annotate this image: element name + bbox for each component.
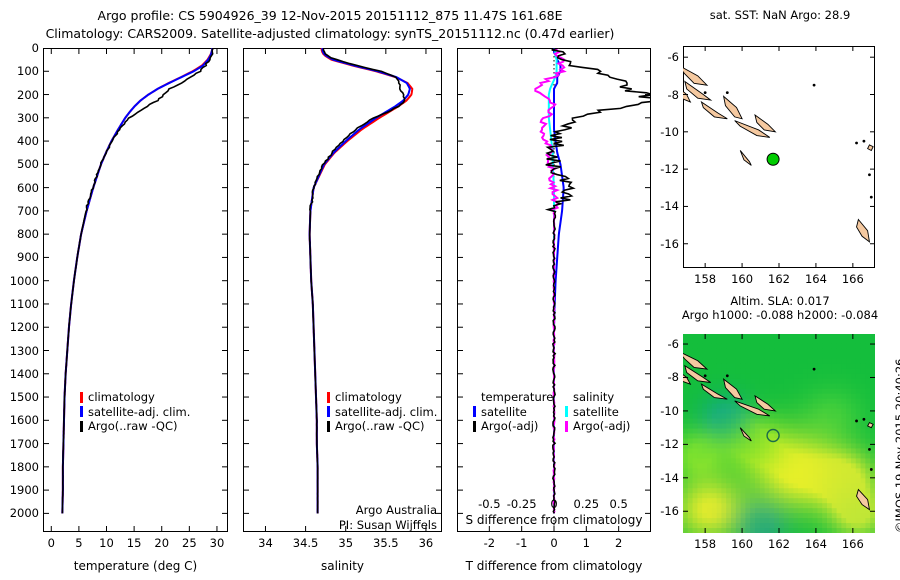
temperature-tick-label: 20	[148, 536, 176, 550]
depth-tick-label: 0	[0, 41, 39, 55]
legend-header: temperature	[473, 390, 565, 405]
depth-tick-label: 1100	[0, 297, 39, 311]
map-lat-tick-label: -8	[655, 370, 679, 384]
difference-legend-salinity-column: salinity satellite Argo(-adj)	[565, 390, 655, 434]
panel-temperature-plot	[43, 48, 228, 532]
legend-swatch-satellite-adj	[80, 406, 83, 417]
legend-swatch-satellite-adj	[327, 406, 330, 417]
copyright-text: ©IMOS 19-Nov-2015 20:40:26	[893, 359, 900, 533]
sla-map-title-line1: Altim. SLA: 0.017	[660, 294, 900, 308]
depth-tick-label: 900	[0, 250, 39, 264]
map-lat-tick-label: -6	[655, 337, 679, 351]
salinity-tick-label: 35.5	[368, 536, 404, 550]
salinity-legend: climatology satellite-adj. clim. Argo(..…	[327, 390, 437, 434]
legend-item: Argo(-adj)	[565, 419, 655, 434]
depth-tick-label: 700	[0, 204, 39, 218]
depth-tick-label: 1700	[0, 437, 39, 451]
temperature-tick-label: 15	[120, 536, 148, 550]
map-lat-tick-label: -12	[655, 162, 679, 176]
legend-item: climatology	[327, 390, 437, 405]
salinity-difference-tick-label: 0.25	[568, 497, 604, 511]
depth-tick-label: 500	[0, 157, 39, 171]
map-lon-tick-label: 160	[726, 272, 758, 286]
legend-label: satellite-adj. clim.	[88, 405, 190, 420]
depth-tick-label: 1800	[0, 460, 39, 474]
legend-label: climatology	[335, 390, 402, 405]
temperature-tick-label: 5	[65, 536, 93, 550]
legend-swatch-temperature-satellite	[473, 406, 476, 417]
temperature-difference-tick-label: 1	[572, 536, 600, 550]
temperature-tick-label: 10	[93, 536, 121, 550]
difference-legend-temperature-column: temperature satellite Argo(-adj)	[473, 390, 565, 434]
legend-item: satellite-adj. clim.	[327, 405, 437, 420]
map-lon-tick-label: 162	[763, 537, 795, 551]
legend-label: climatology	[88, 390, 155, 405]
temperature-tick-label: 25	[175, 536, 203, 550]
temperature-difference-tick-label: 2	[605, 536, 633, 550]
map-lon-tick-label: 158	[689, 272, 721, 286]
temperature-difference-tick-label: -2	[475, 536, 503, 550]
temperature-tick-label: 0	[37, 536, 65, 550]
depth-tick-label: 1000	[0, 274, 39, 288]
legend-swatch-climatology	[80, 392, 83, 403]
salinity-tick-label: 34	[247, 536, 283, 550]
map-lat-tick-label: -10	[655, 125, 679, 139]
salinity-difference-tick-label: 0	[536, 497, 572, 511]
salinity-axis-label: salinity	[243, 559, 442, 573]
depth-tick-label: 1300	[0, 344, 39, 358]
program-annotation: Argo Australia PI: Susan Wijffels	[262, 503, 437, 532]
depth-tick-label: 100	[0, 64, 39, 78]
legend-item: satellite	[473, 405, 565, 420]
salinity-tick-label: 34.5	[288, 536, 324, 550]
legend-label: Argo(..raw -QC)	[88, 419, 178, 434]
legend-label: Argo(..raw -QC)	[335, 419, 425, 434]
legend-swatch-salinity-argo-adj	[565, 421, 568, 432]
depth-tick-label: 400	[0, 134, 39, 148]
map-lon-tick-label: 164	[800, 537, 832, 551]
map-lat-tick-label: -10	[655, 404, 679, 418]
salinity-difference-axis-label: S difference from climatology	[450, 513, 658, 527]
legend-label: Argo(-adj)	[481, 419, 538, 434]
temperature-difference-axis-label: T difference from climatology	[450, 559, 658, 573]
depth-tick-label: 1400	[0, 367, 39, 381]
temperature-axis-label: temperature (deg C)	[43, 559, 228, 573]
salinity-difference-tick-label: -0.5	[471, 497, 507, 511]
legend-swatch-climatology	[327, 392, 330, 403]
map-lon-tick-label: 158	[689, 537, 721, 551]
legend-item: satellite	[565, 405, 655, 420]
legend-item: Argo(-adj)	[473, 419, 565, 434]
legend-label: satellite-adj. clim.	[335, 405, 437, 420]
depth-tick-label: 300	[0, 111, 39, 125]
legend-item: satellite-adj. clim.	[80, 405, 190, 420]
depth-tick-label: 1600	[0, 413, 39, 427]
depth-tick-label: 1900	[0, 483, 39, 497]
program-name: Argo Australia	[262, 503, 437, 518]
salinity-difference-tick-label: 0.5	[601, 497, 637, 511]
map-lat-tick-label: -14	[655, 471, 679, 485]
map-lat-tick-label: -16	[655, 237, 679, 251]
map-lat-tick-label: -8	[655, 88, 679, 102]
temperature-legend: climatology satellite-adj. clim. Argo(..…	[80, 390, 190, 434]
depth-tick-label: 1500	[0, 390, 39, 404]
figure-title-line2: Climatology: CARS2009. Satellite-adjuste…	[0, 26, 660, 41]
panel-salinity-plot	[243, 48, 442, 532]
depth-tick-label: 1200	[0, 320, 39, 334]
map-lon-tick-label: 166	[837, 537, 869, 551]
legend-header-label: salinity	[573, 390, 614, 405]
map-lat-tick-label: -6	[655, 50, 679, 64]
temperature-difference-tick-label: -1	[508, 536, 536, 550]
legend-swatch-salinity-satellite	[565, 406, 568, 417]
map-lon-tick-label: 166	[837, 272, 869, 286]
legend-header-label: temperature	[481, 390, 553, 405]
depth-tick-label: 200	[0, 88, 39, 102]
legend-item: climatology	[80, 390, 190, 405]
salinity-tick-label: 36	[408, 536, 444, 550]
legend-item: Argo(..raw -QC)	[80, 419, 190, 434]
depth-tick-label: 600	[0, 181, 39, 195]
principal-investigator: PI: Susan Wijffels	[262, 518, 437, 533]
legend-label: Argo(-adj)	[573, 419, 630, 434]
legend-swatch-argo-raw	[80, 421, 83, 432]
legend-swatch-argo-raw	[327, 421, 330, 432]
legend-header: salinity	[565, 390, 655, 405]
map-lat-tick-label: -16	[655, 504, 679, 518]
legend-label: satellite	[573, 405, 619, 420]
salinity-tick-label: 35	[328, 536, 364, 550]
sst-map-title: sat. SST: NaN Argo: 28.9	[660, 8, 900, 22]
map-lon-tick-label: 160	[726, 537, 758, 551]
depth-tick-label: 800	[0, 227, 39, 241]
map-sla-plot	[683, 334, 875, 533]
sla-map-title-line2: Argo h1000: -0.088 h2000: -0.084	[655, 308, 900, 322]
legend-item: Argo(..raw -QC)	[327, 419, 437, 434]
salinity-difference-tick-label: -0.25	[504, 497, 540, 511]
temperature-tick-label: 30	[203, 536, 231, 550]
map-lon-tick-label: 162	[763, 272, 795, 286]
difference-legend: temperature satellite Argo(-adj) salinit…	[473, 390, 655, 434]
legend-swatch-temperature-argo-adj	[473, 421, 476, 432]
temperature-difference-tick-label: 0	[540, 536, 568, 550]
depth-tick-label: 2000	[0, 506, 39, 520]
map-lat-tick-label: -12	[655, 437, 679, 451]
figure-title-line1: Argo profile: CS 5904926_39 12-Nov-2015 …	[0, 8, 660, 23]
legend-label: satellite	[481, 405, 527, 420]
map-lon-tick-label: 164	[800, 272, 832, 286]
map-sst-plot	[683, 46, 875, 268]
map-lat-tick-label: -14	[655, 199, 679, 213]
panel-difference-plot	[457, 48, 651, 532]
